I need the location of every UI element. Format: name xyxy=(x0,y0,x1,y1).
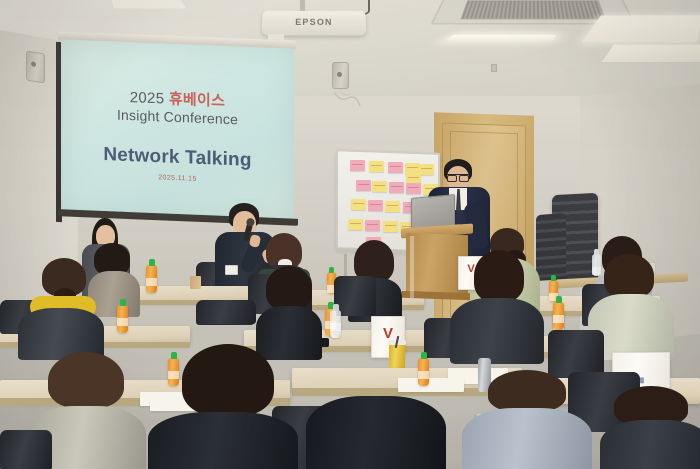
glasses-icon xyxy=(447,174,469,179)
juice-bottle xyxy=(553,302,564,330)
slide-content: 2025 휴베이스 Insight Conference Network Tal… xyxy=(61,39,294,224)
dark-coat xyxy=(600,420,700,469)
sticky-note xyxy=(383,221,398,232)
projector-brand-label: EPSON xyxy=(262,17,366,26)
audience-member xyxy=(18,258,104,350)
chair xyxy=(196,300,256,324)
ceiling-light-panel-b xyxy=(602,45,700,62)
slide-main-title: Network Talking xyxy=(61,142,294,173)
paper-handout xyxy=(398,378,464,392)
sticky-note xyxy=(389,182,404,193)
hair xyxy=(266,266,312,310)
audience-member xyxy=(462,370,592,469)
conference-room-photo: EPSON 2025 휴베이스 Insight Conference Netwo… xyxy=(0,0,700,469)
wall-cable-hook xyxy=(330,88,370,110)
sticky-note xyxy=(368,200,383,211)
sticky-note xyxy=(348,219,363,230)
sticky-note xyxy=(369,161,384,172)
hair xyxy=(488,370,566,412)
sticky-note xyxy=(365,220,380,231)
audience-member xyxy=(148,344,298,469)
projector: EPSON xyxy=(261,11,366,36)
sticky-note xyxy=(350,160,365,171)
sticky-note xyxy=(385,201,400,212)
juice-bottle xyxy=(418,358,429,386)
wall-speaker-left-icon xyxy=(26,50,45,83)
wood-block xyxy=(190,276,201,289)
hair xyxy=(48,352,124,408)
juice-bottle xyxy=(117,305,128,333)
coat xyxy=(450,298,544,364)
audience-member xyxy=(306,396,446,469)
sticky-note xyxy=(372,181,387,192)
sticky-note xyxy=(406,183,421,194)
audience-member xyxy=(448,250,544,360)
audience-member xyxy=(600,386,700,469)
gray-jacket xyxy=(462,408,592,469)
ceiling-light-panel-a xyxy=(582,15,700,42)
chair xyxy=(334,276,376,316)
wall-outlet-icon xyxy=(491,64,497,72)
slide-year: 2025 xyxy=(130,89,165,107)
chair xyxy=(0,430,52,469)
water-bottle xyxy=(330,310,341,338)
hair xyxy=(474,250,524,302)
hair xyxy=(182,344,274,416)
ceiling-light-strip xyxy=(446,35,556,41)
dark-jacket xyxy=(148,412,298,469)
sticky-note xyxy=(356,180,371,191)
sticky-note xyxy=(351,199,366,210)
podium-edge-highlight xyxy=(410,236,414,298)
yellow-drink-cup xyxy=(389,344,405,370)
slide-date: 2025.11.15 xyxy=(61,170,294,186)
name-badge xyxy=(225,265,238,275)
dark-jacket xyxy=(306,396,446,469)
ceiling-light-panel-c xyxy=(110,0,186,8)
slide-brand-korean: 휴베이스 xyxy=(169,91,225,110)
wall-speaker-right-icon xyxy=(332,62,349,89)
juice-bottle xyxy=(146,265,157,293)
hair xyxy=(604,254,654,298)
sticky-note xyxy=(388,162,403,173)
ac-vent-grille xyxy=(460,0,606,19)
